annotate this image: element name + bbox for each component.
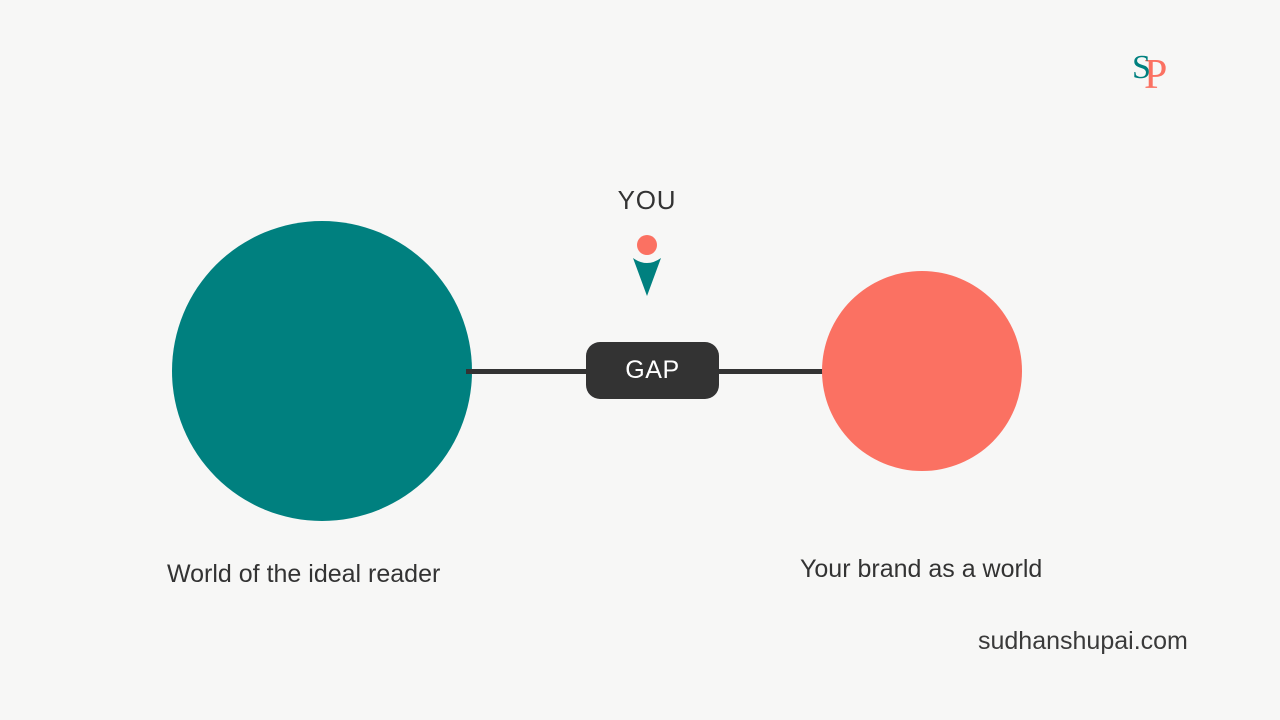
person-head-shape: [637, 235, 657, 255]
gap-badge-label: GAP: [625, 358, 680, 383]
gap-badge[interactable]: GAP: [586, 342, 719, 399]
reader-world-caption: World of the ideal reader: [167, 559, 440, 589]
logo-letter-s-glyph: S: [1132, 49, 1151, 86]
you-label: YOU: [592, 186, 702, 215]
reader-world-circle[interactable]: [172, 221, 472, 521]
slide-canvas: P S GAP YOU World of the ideal reader Yo…: [0, 0, 1280, 720]
brand-world-caption: Your brand as a world: [800, 554, 1042, 584]
person-pin-icon: [629, 234, 665, 296]
person-body-shape: [633, 258, 661, 296]
connector-line-right: [713, 369, 828, 374]
sp-monogram-logo[interactable]: P S: [1124, 48, 1192, 120]
you-marker-group: YOU: [592, 186, 702, 298]
connector-line-left: [466, 369, 592, 374]
site-url-text[interactable]: sudhanshupai.com: [978, 626, 1188, 656]
brand-world-circle[interactable]: [822, 271, 1022, 471]
